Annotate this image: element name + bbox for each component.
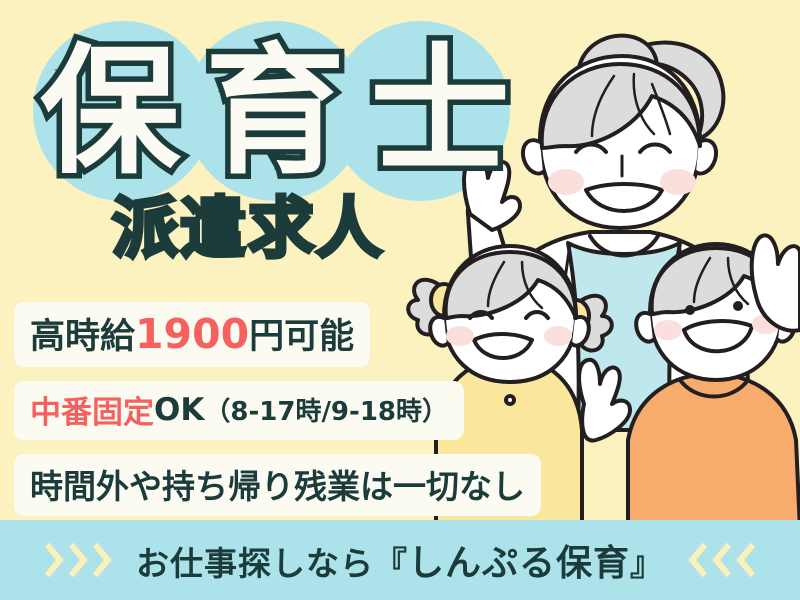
wage-prefix: 高時給 xyxy=(30,308,135,359)
chevron-right-icon xyxy=(92,543,114,577)
shift-highlight: 中番固定 xyxy=(30,387,154,432)
chevron-left-icon xyxy=(686,543,708,577)
cta-tail: 』 xyxy=(630,544,664,583)
chevron-left-icon xyxy=(734,543,756,577)
headline-char-3: 士 xyxy=(370,43,510,183)
wage-suffix: 円可能 xyxy=(249,308,354,359)
chevron-right-icon xyxy=(68,543,90,577)
chevrons-left-group xyxy=(686,543,756,577)
bottom-cta-bar: お仕事探しなら『しんぷる保育』 xyxy=(0,520,800,600)
chevron-left-icon xyxy=(710,543,732,577)
headline-char-1: 保 xyxy=(40,43,180,183)
page-title: 保 育 士 xyxy=(40,28,510,198)
chevrons-right-group xyxy=(44,543,114,577)
brand-name: しんぷる保育 xyxy=(408,543,630,584)
bottom-cta-text: お仕事探しなら『しんぷる保育』 xyxy=(136,534,664,586)
shift-ok: OK xyxy=(154,392,204,428)
overtime-text: 時間外や持ち帰り残業は一切なし xyxy=(30,460,525,508)
headline-char-2: 育 xyxy=(205,43,345,183)
feature-pill-shift: 中番固定OK（8-17時/9-18時） xyxy=(14,381,464,440)
cta-lead: お仕事探しなら『 xyxy=(136,544,408,583)
shift-hours-note: （8-17時/9-18時） xyxy=(204,391,448,428)
wage-amount: 1900 xyxy=(135,310,249,358)
feature-list: 高時給1900円可能 中番固定OK（8-17時/9-18時） 時間外や持ち帰り残… xyxy=(14,302,541,516)
feature-pill-wage: 高時給1900円可能 xyxy=(14,302,370,367)
job-ad-banner: 保 育 士 派遣求人 高時給1900円可能 中番固定OK（8-17時/9-18時… xyxy=(0,0,800,600)
subtitle: 派遣求人 xyxy=(112,196,384,262)
feature-pill-overtime: 時間外や持ち帰り残業は一切なし xyxy=(14,454,541,516)
chevron-right-icon xyxy=(44,543,66,577)
